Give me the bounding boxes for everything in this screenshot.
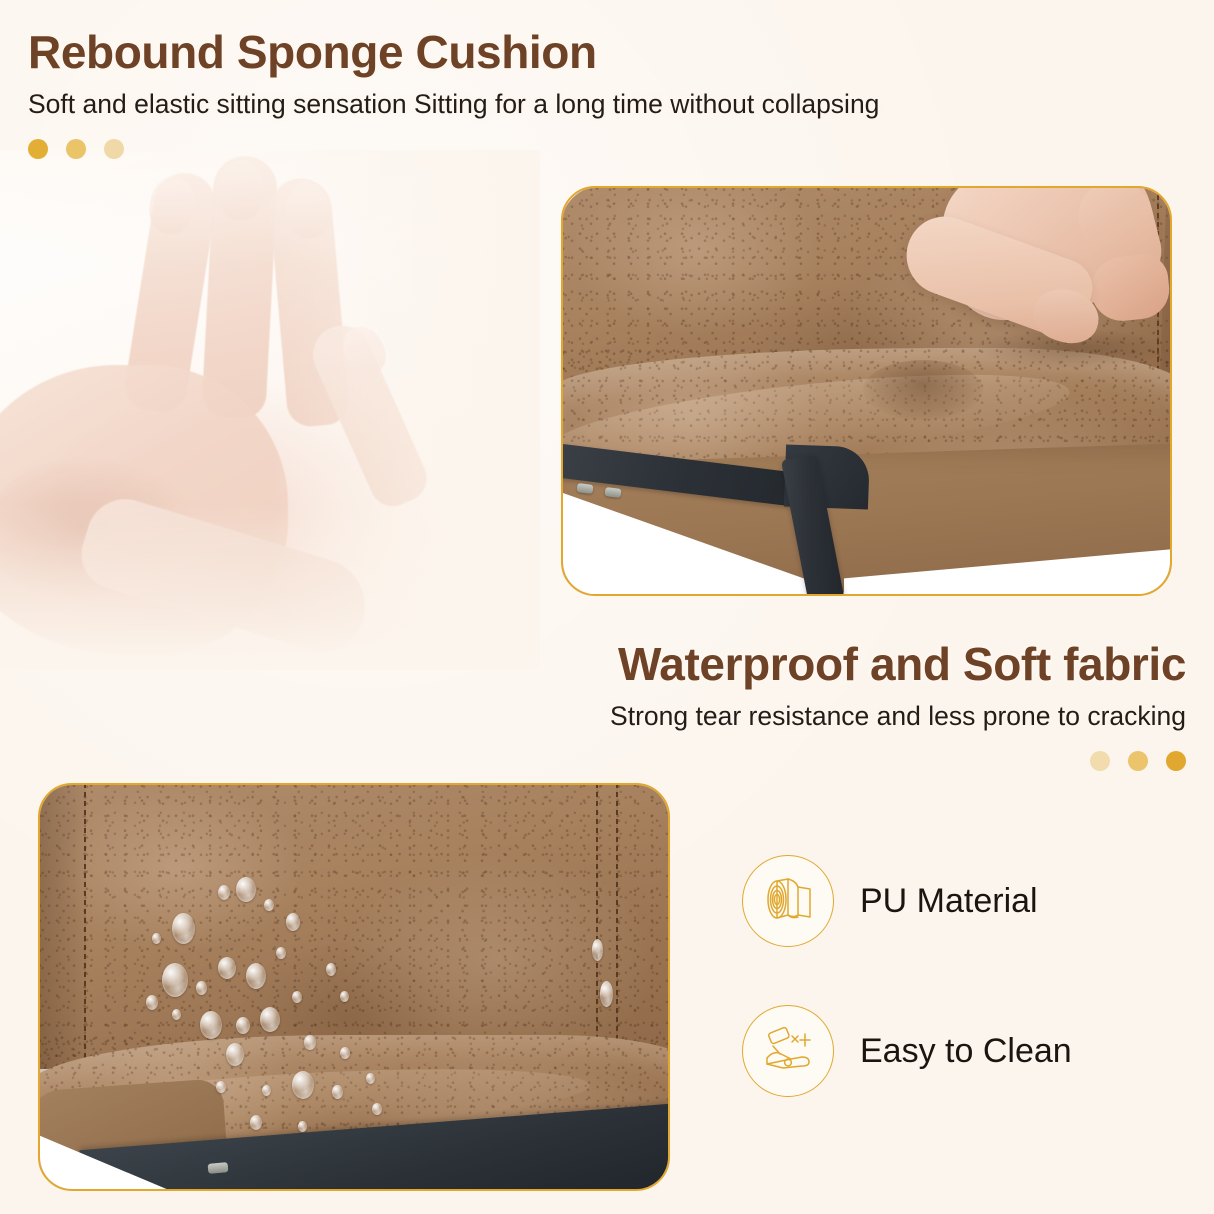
water-repellent-photo — [38, 783, 670, 1191]
water-droplet — [292, 991, 302, 1003]
water-droplet — [236, 1017, 250, 1034]
dot — [66, 139, 86, 159]
page-subtitle: Soft and elastic sitting sensation Sitti… — [28, 89, 879, 121]
decorative-dots-top — [28, 139, 879, 159]
water-droplet — [236, 877, 256, 902]
leg-screw — [577, 483, 594, 494]
dot — [1128, 751, 1148, 771]
water-droplet — [246, 963, 266, 989]
water-droplet — [226, 1043, 244, 1066]
water-droplet — [592, 939, 603, 961]
feature-badge-label: Easy to Clean — [860, 1032, 1072, 1071]
water-droplet — [218, 957, 236, 979]
leg-screw — [208, 1162, 229, 1174]
water-droplet — [276, 947, 286, 959]
hand-watermark-photo — [0, 150, 540, 670]
section-heading-cushion: Rebound Sponge Cushion Soft and elastic … — [28, 28, 879, 159]
section-heading-fabric: Waterproof and Soft fabric Strong tear r… — [610, 640, 1186, 771]
water-droplet — [196, 981, 207, 995]
water-droplet — [152, 933, 161, 944]
water-droplet — [372, 1103, 382, 1115]
feature-badge-label: PU Material — [860, 882, 1038, 921]
water-droplet — [162, 963, 188, 997]
water-droplet — [250, 1115, 262, 1130]
water-droplet — [172, 913, 195, 944]
water-droplet — [366, 1073, 375, 1084]
cushion-press-photo — [561, 186, 1172, 596]
feature-badge-easy-to-clean[interactable]: Easy to Clean — [742, 1005, 1072, 1097]
water-droplet — [600, 981, 613, 1007]
dot — [104, 139, 124, 159]
hand-photo-fade-overlay — [0, 150, 540, 670]
dot — [28, 139, 48, 159]
decorative-dots-bottom — [610, 751, 1186, 771]
feature-badge-list: PU Material Easy to Clean — [742, 855, 1072, 1155]
water-droplet — [298, 1121, 307, 1132]
water-droplet — [172, 1009, 181, 1020]
water-droplet — [340, 1047, 350, 1059]
water-droplet — [262, 1085, 271, 1096]
water-droplet — [216, 1081, 226, 1093]
water-droplet — [292, 1071, 314, 1099]
suede-texture — [38, 783, 670, 1069]
leg-screw — [605, 487, 622, 498]
feature-badge-pu-material[interactable]: PU Material — [742, 855, 1072, 947]
stitch-line — [596, 783, 598, 1063]
water-droplet — [326, 963, 336, 976]
section-title: Waterproof and Soft fabric — [610, 640, 1186, 689]
pressing-hand — [885, 186, 1172, 408]
dot — [1166, 751, 1186, 771]
water-droplet — [304, 1035, 316, 1050]
chair-backrest — [38, 783, 670, 1069]
stitch-line — [616, 783, 618, 1063]
water-droplet — [218, 885, 230, 900]
section-subtitle: Strong tear resistance and less prone to… — [610, 701, 1186, 733]
water-droplet — [332, 1085, 343, 1099]
water-droplet — [340, 991, 349, 1002]
water-droplet — [200, 1011, 222, 1039]
fabric-roll-icon — [742, 855, 834, 947]
backrest-side-panel — [38, 783, 84, 1073]
stitch-line — [84, 783, 86, 1063]
water-droplet — [286, 913, 300, 931]
water-droplet — [260, 1007, 280, 1032]
water-droplet — [264, 899, 274, 911]
dot — [1090, 751, 1110, 771]
water-droplet — [146, 995, 158, 1010]
page-title: Rebound Sponge Cushion — [28, 28, 879, 77]
product-feature-infographic: Rebound Sponge Cushion Soft and elastic … — [0, 0, 1214, 1214]
wipe-clean-icon — [742, 1005, 834, 1097]
